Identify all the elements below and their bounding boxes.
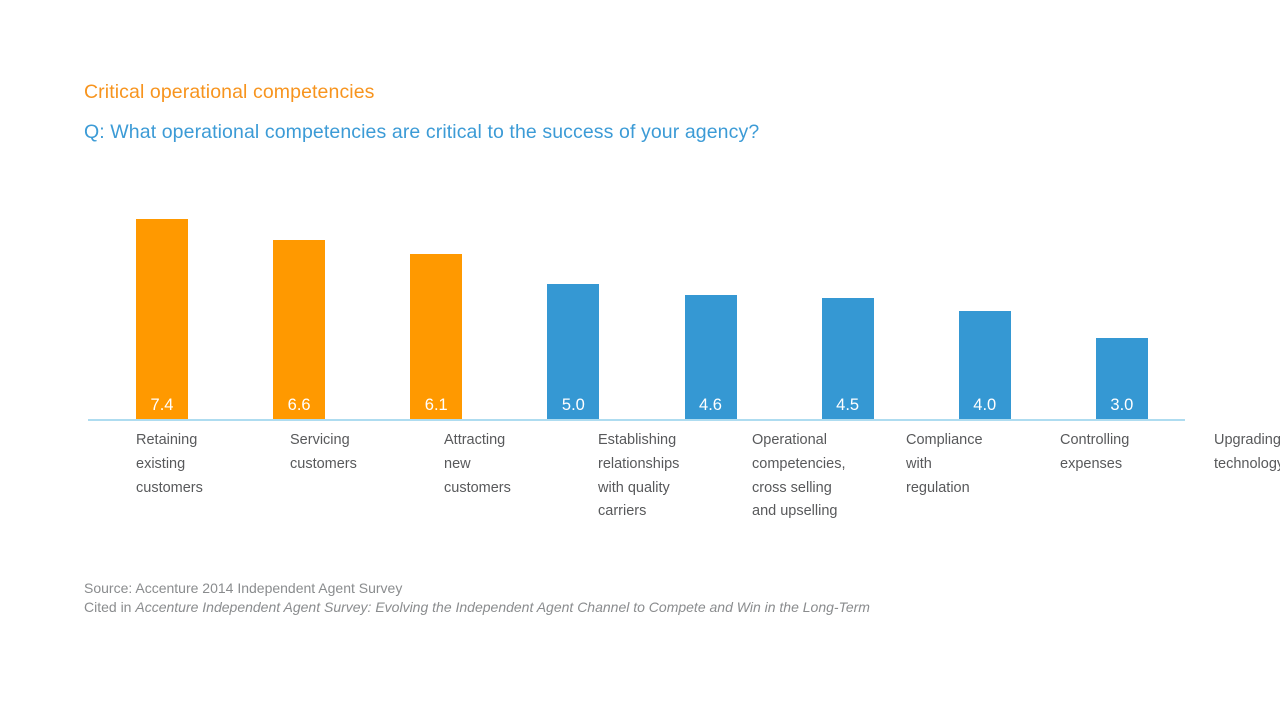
cat-slot: Attracting new customers <box>396 429 550 524</box>
bar-value-label: 4.5 <box>822 397 874 414</box>
bar-slot: 6.6 <box>225 180 362 420</box>
bar-slot: 4.5 <box>774 180 911 420</box>
bar-value-label: 4.6 <box>685 397 737 414</box>
category-label-upgrading-technology: Upgrading technology <box>1214 429 1280 477</box>
bar-slot: 3.0 <box>1048 180 1185 420</box>
bar-value-label: 4.0 <box>959 397 1011 414</box>
category-label-servicing-customers: Servicing customers <box>290 429 396 477</box>
category-label-attracting-new-customers: Attracting new customers <box>444 429 550 500</box>
bar-slot: 4.6 <box>637 180 774 420</box>
bar-operational-competencies-cross-selling-and-upselling[interactable]: 4.6 <box>685 295 737 420</box>
bar-value-label: 6.6 <box>273 397 325 414</box>
cat-slot: Compliance with regulation <box>858 429 1012 524</box>
bar-series-container: 7.4 6.6 6.1 5.0 4.6 4.5 <box>88 180 1185 420</box>
citation-prefix: Cited in <box>84 599 135 615</box>
citation-line: Cited in Accenture Independent Agent Sur… <box>84 598 870 617</box>
bar-value-label: 6.1 <box>410 397 462 414</box>
bar-slot: 5.0 <box>499 180 636 420</box>
cat-slot: Servicing customers <box>242 429 396 524</box>
category-label-compliance-with-regulation: Compliance with regulation <box>906 429 1012 500</box>
cat-slot: Controlling expenses <box>1012 429 1166 524</box>
category-label-retaining-existing-customers: Retaining existing customers <box>136 429 242 500</box>
category-label-controlling-expenses: Controlling expenses <box>1060 429 1166 477</box>
page-title: Critical operational competencies <box>84 81 375 104</box>
category-label-establishing-relationships-with-quality-carriers: Establishing relationships with quality … <box>598 429 704 524</box>
bar-slot: 7.4 <box>88 180 225 420</box>
citation-title: Accenture Independent Agent Survey: Evol… <box>135 599 870 615</box>
cat-slot: Upgrading technology <box>1166 429 1280 524</box>
chart-plot-area: 7.4 6.6 6.1 5.0 4.6 4.5 <box>88 180 1185 420</box>
bar-compliance-with-regulation[interactable]: 4.5 <box>822 298 874 420</box>
bar-value-label: 5.0 <box>547 397 599 414</box>
bar-slot: 4.0 <box>911 180 1048 420</box>
bar-establishing-relationships-with-quality-carriers[interactable]: 5.0 <box>547 284 599 420</box>
cat-slot: Retaining existing customers <box>88 429 242 524</box>
bar-slot: 6.1 <box>362 180 499 420</box>
cat-slot: Operational competencies, cross selling … <box>704 429 858 524</box>
x-axis-category-labels: Retaining existing customers Servicing c… <box>88 429 1185 524</box>
category-label-operational-competencies-cross-selling-and-upselling: Operational competencies, cross selling … <box>752 429 858 524</box>
bar-retaining-existing-customers[interactable]: 7.4 <box>136 219 188 420</box>
chart-question-subtitle: Q: What operational competencies are cri… <box>84 121 759 144</box>
bar-attracting-new-customers[interactable]: 6.1 <box>410 254 462 420</box>
x-axis-baseline <box>88 419 1185 421</box>
bar-controlling-expenses[interactable]: 4.0 <box>959 311 1011 420</box>
bar-value-label: 3.0 <box>1096 397 1148 414</box>
bar-servicing-customers[interactable]: 6.6 <box>273 240 325 420</box>
cat-slot: Establishing relationships with quality … <box>550 429 704 524</box>
bar-value-label: 7.4 <box>136 397 188 414</box>
bar-upgrading-technology[interactable]: 3.0 <box>1096 338 1148 420</box>
chart-footer: Source: Accenture 2014 Independent Agent… <box>84 579 870 617</box>
source-line: Source: Accenture 2014 Independent Agent… <box>84 579 870 598</box>
